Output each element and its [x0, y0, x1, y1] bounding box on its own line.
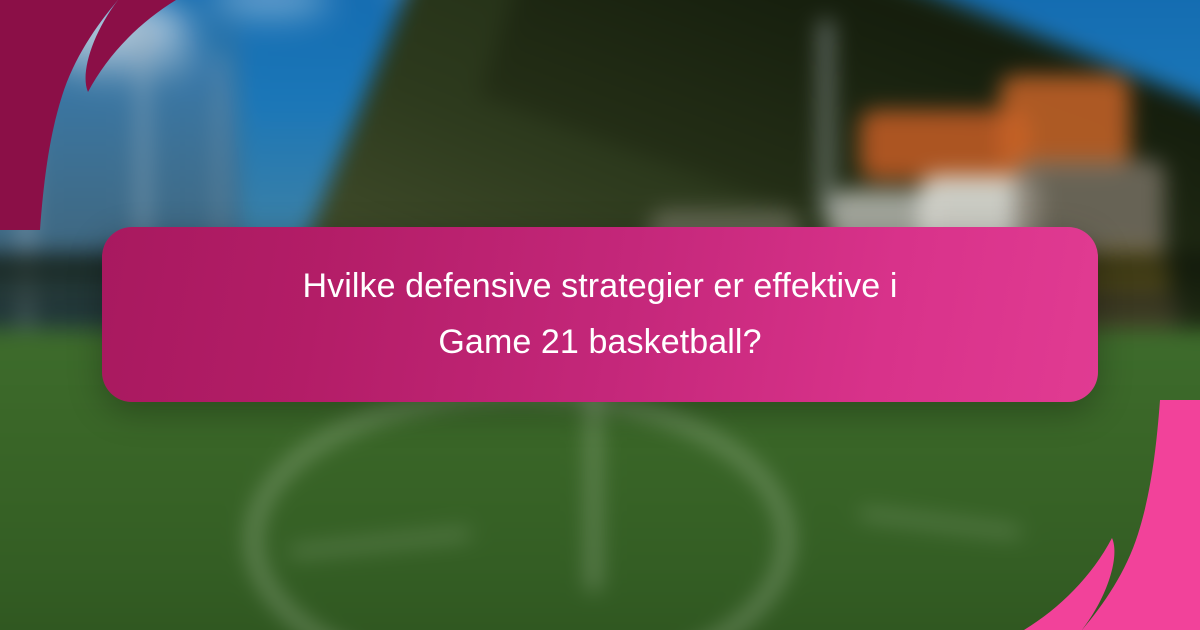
stand-structure — [1000, 75, 1130, 170]
floodlight-pole — [820, 20, 832, 220]
share-card-canvas: Hvilke defensive strategier er effektive… — [0, 0, 1200, 630]
headline-text: Hvilke defensive strategier er effektive… — [142, 259, 1058, 369]
headline-card: Hvilke defensive strategier er effektive… — [102, 227, 1098, 402]
